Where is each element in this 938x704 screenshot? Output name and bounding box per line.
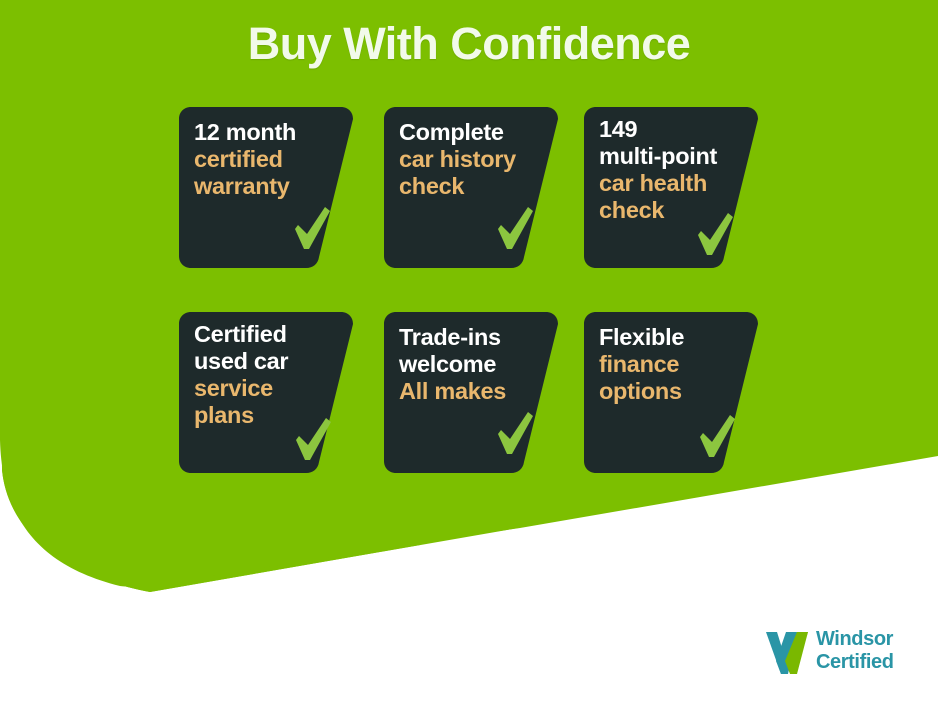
card-line: used car (194, 348, 340, 375)
check-icon (694, 210, 736, 258)
card-line: All makes (399, 378, 545, 405)
card-line: car history (399, 146, 545, 173)
page-title: Buy With Confidence (0, 18, 938, 70)
card-line: Trade-ins (399, 324, 545, 351)
benefit-card-service-plans[interactable]: Certified used car service plans (179, 312, 353, 473)
card-line: Flexible (599, 324, 745, 351)
card-line: options (599, 378, 745, 405)
logo-wordmark: Windsor Certified (816, 628, 924, 674)
card-line: Complete (399, 119, 545, 146)
check-icon (292, 415, 334, 463)
benefit-card-multi-point-health-check[interactable]: 149 multi-point car health check (584, 107, 758, 268)
check-icon (291, 204, 333, 252)
card-line: certified (194, 146, 340, 173)
benefit-card-certified-warranty[interactable]: 12 month certified warranty (179, 107, 353, 268)
card-line: car health (599, 170, 745, 197)
card-line: check (399, 173, 545, 200)
logo-line-windsor: Windsor (816, 628, 924, 651)
card-line: 149 (599, 116, 745, 143)
card-line: warranty (194, 173, 340, 200)
logo-line-certified: Certified (816, 651, 924, 674)
check-icon (494, 409, 536, 457)
card-line: 12 month (194, 119, 340, 146)
check-icon (696, 412, 738, 460)
check-icon (494, 204, 536, 252)
card-line: welcome (399, 351, 545, 378)
poster-canvas: Buy With Confidence 12 month certified w… (0, 0, 938, 704)
card-line: finance (599, 351, 745, 378)
card-line: Certified (194, 321, 340, 348)
card-line: multi-point (599, 143, 745, 170)
benefit-card-trade-ins[interactable]: Trade-ins welcome All makes (384, 312, 558, 473)
card-line: service (194, 375, 340, 402)
benefit-card-car-history-check[interactable]: Complete car history check (384, 107, 558, 268)
windsor-w-mark (764, 630, 812, 674)
windsor-certified-logo[interactable]: Windsor Certified (764, 628, 924, 680)
benefit-card-flexible-finance[interactable]: Flexible finance options (584, 312, 758, 473)
